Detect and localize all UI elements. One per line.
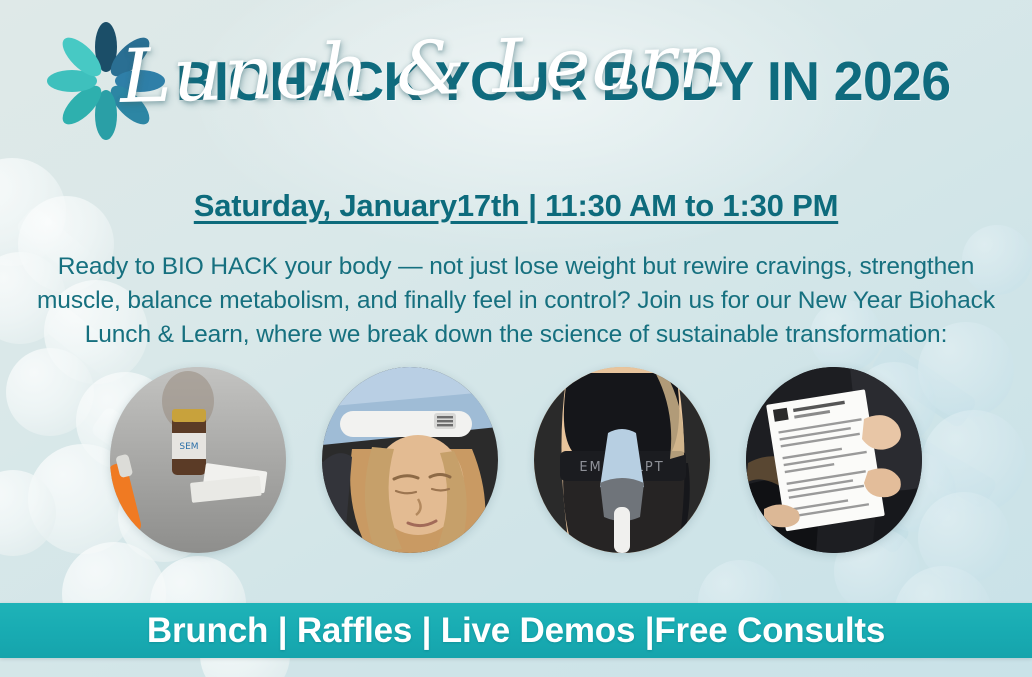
title-block: BIOHACK YOUR BODY IN 2026	[176, 49, 974, 113]
flyer-header: BIOHACK YOUR BODY IN 2026 Lunch & Learn	[0, 0, 1032, 132]
photo-peptide-vial: SEM	[110, 367, 286, 553]
features-banner-text: Brunch | Raffles | Live Demos |Free Cons…	[147, 611, 885, 651]
features-banner: Brunch | Raffles | Live Demos |Free Cons…	[0, 603, 1032, 658]
description-line: Lunch & Learn, where we break down the s…	[36, 318, 996, 352]
description-line: Ready to BIO HACK your body — not just l…	[36, 250, 996, 284]
event-flyer: BIOHACK YOUR BODY IN 2026 Lunch & Learn …	[0, 0, 1032, 677]
photo-gallery: SEM	[0, 367, 1032, 553]
page-title: BIOHACK YOUR BODY IN 2026	[176, 49, 951, 113]
flower-petal-logo	[46, 21, 166, 141]
photo-emsculpt: EMSCULPT	[534, 367, 710, 553]
photo-lab-report	[746, 367, 922, 553]
event-datetime: Saturday, January17th | 11:30 AM to 1:30…	[0, 188, 1032, 224]
svg-text:SEM: SEM	[179, 442, 198, 452]
photo-red-light-therapy	[322, 367, 498, 553]
description-line: muscle, balance metabolism, and finally …	[36, 284, 996, 318]
event-description: Ready to BIO HACK your body — not just l…	[36, 250, 996, 351]
